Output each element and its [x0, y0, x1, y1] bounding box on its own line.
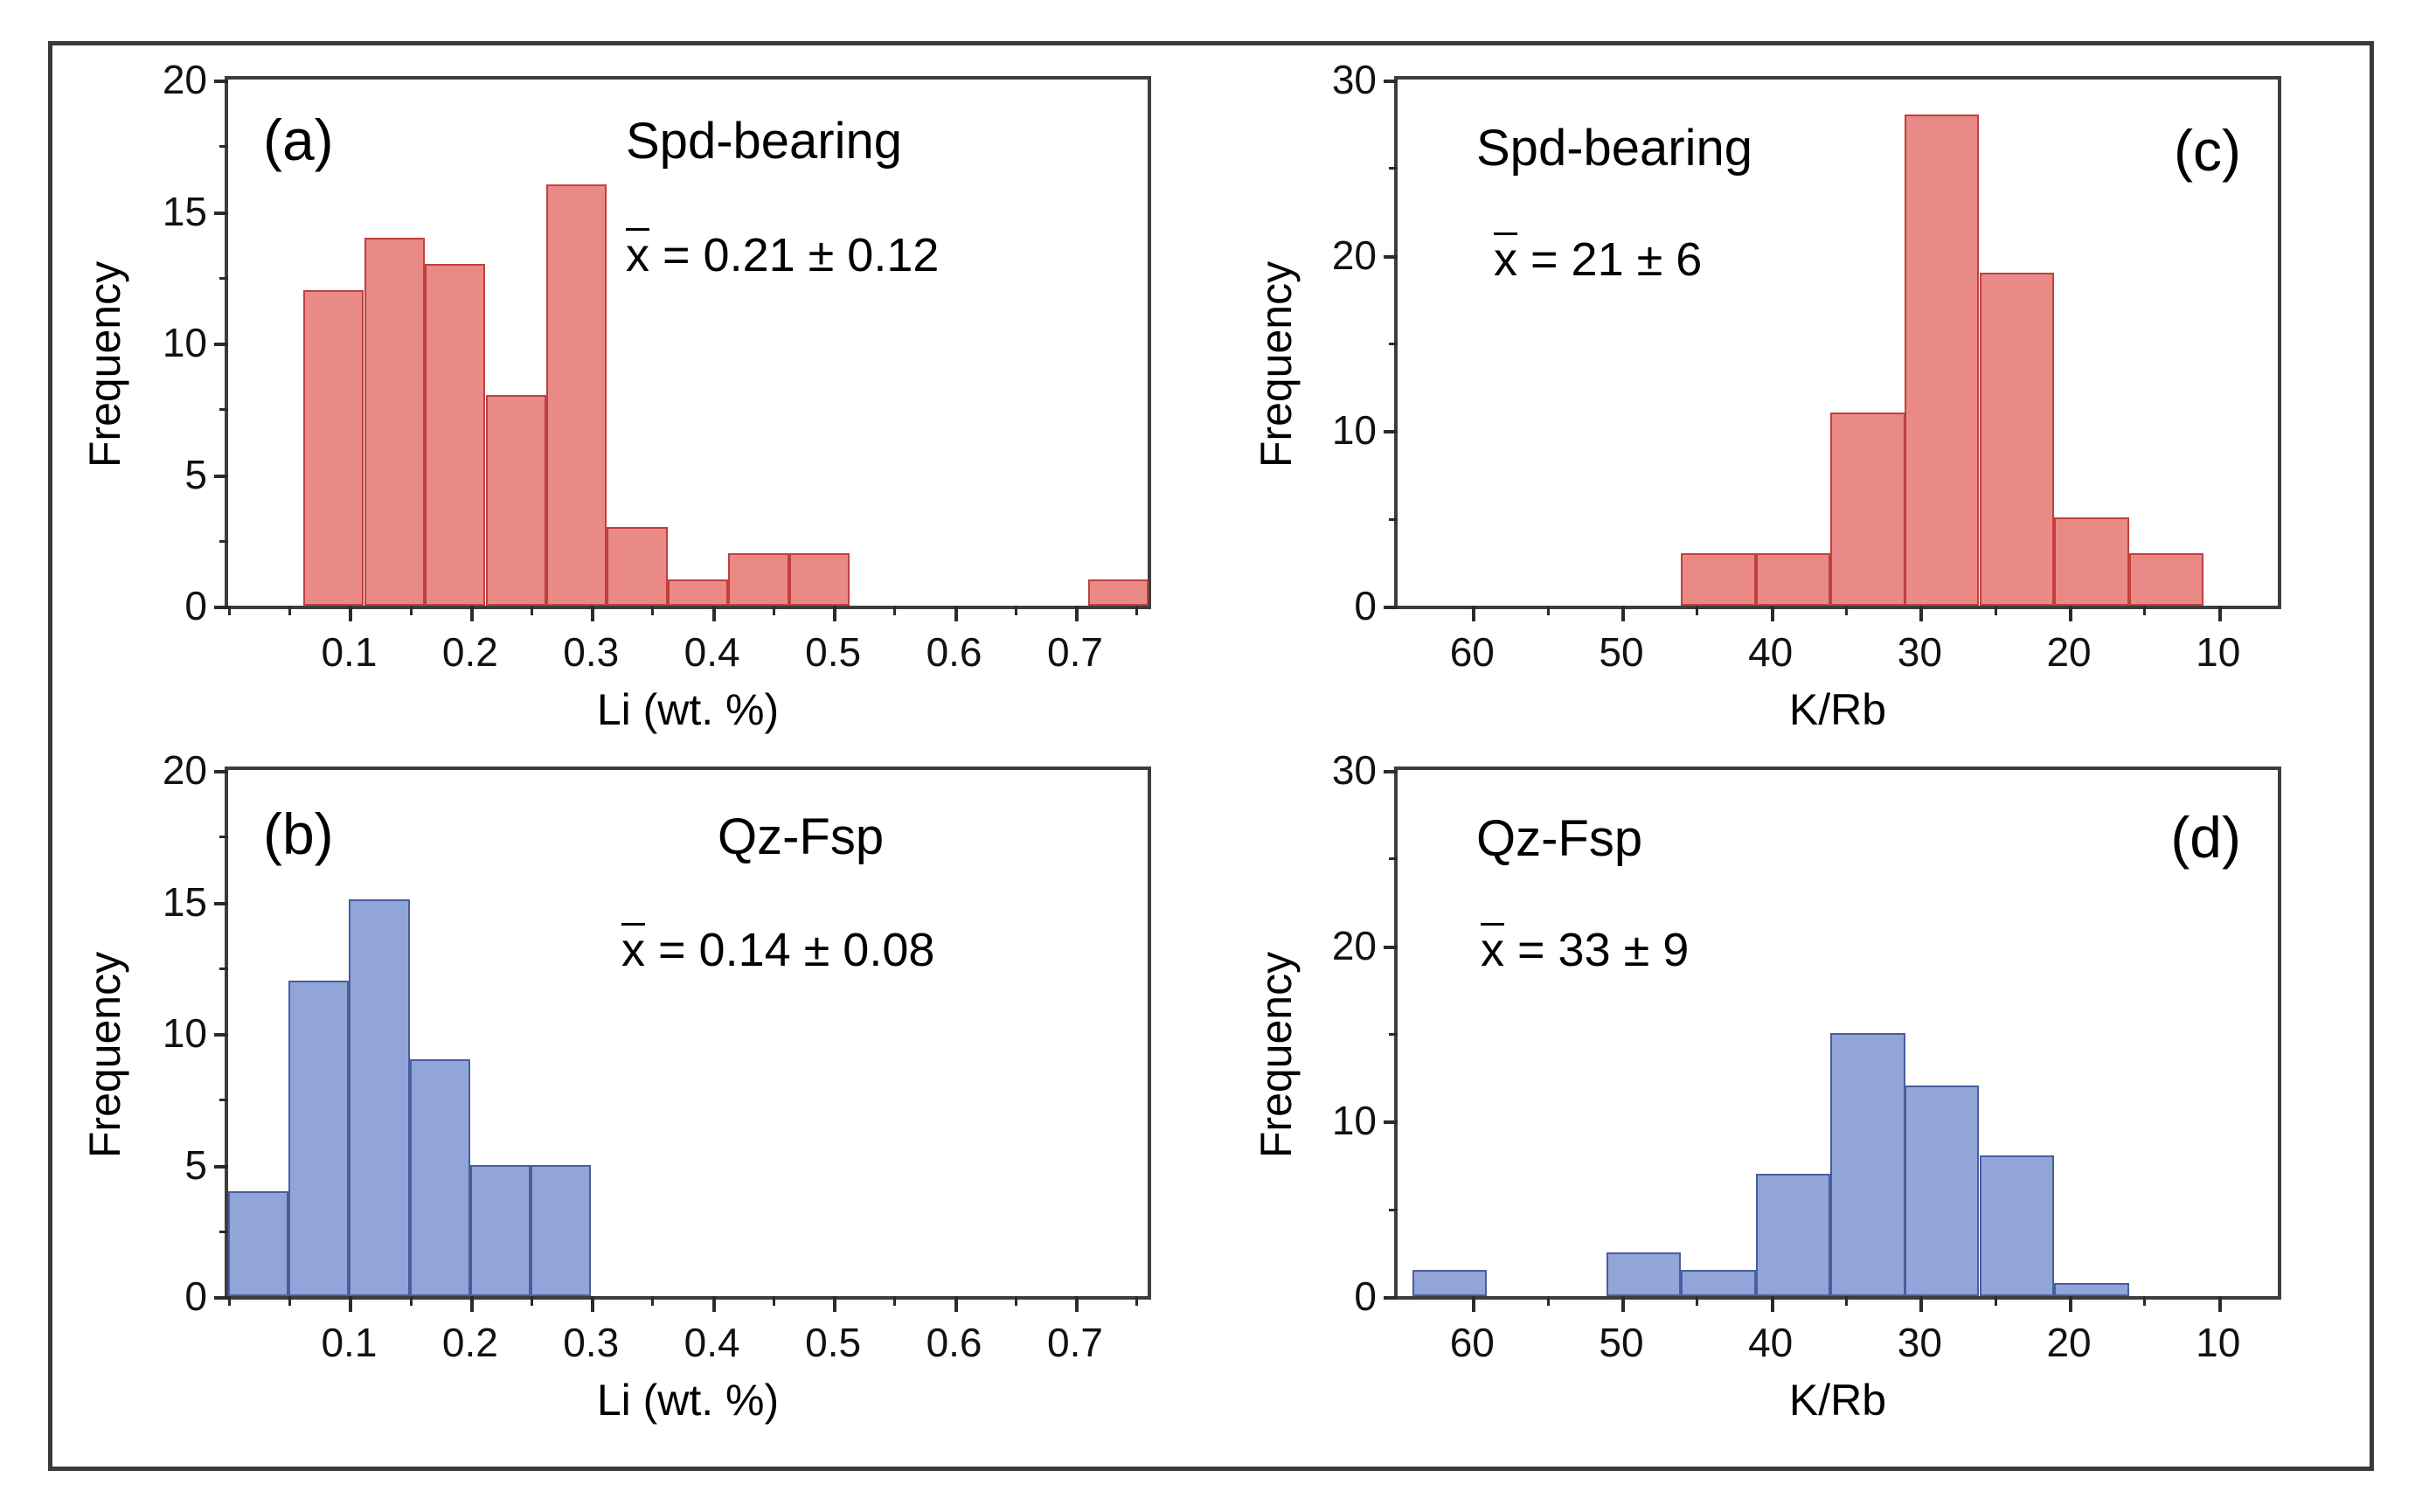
x-tick-minor [2143, 606, 2146, 615]
bar [1980, 273, 2054, 606]
y-tick-label: 20 [1332, 926, 1377, 966]
panel-b-bars-layer: 0 5 10 15 20 0 [228, 770, 1148, 1296]
y-tick [1384, 1296, 1398, 1300]
x-tick-minor [1015, 606, 1017, 615]
x-tick [591, 1296, 594, 1312]
panel-d-x-axis-title: K/Rb [1394, 1378, 2281, 1422]
panel-d-bars-layer: 0 10 20 30 60 50 40 30 20 1 [1398, 770, 2278, 1296]
y-tick-label: 20 [163, 750, 207, 790]
x-tick-minor [1135, 1296, 1138, 1306]
y-tick-minor [1389, 1209, 1398, 1211]
bar [1756, 553, 1830, 606]
y-tick-label: 0 [184, 1276, 207, 1316]
x-tick-minor [1015, 1296, 1017, 1306]
y-tick [214, 212, 228, 215]
x-tick-label: 0.2 [442, 632, 498, 672]
bar [425, 264, 485, 606]
bar [288, 981, 349, 1296]
x-tick-minor [1995, 606, 1997, 615]
bar [546, 184, 607, 606]
bar [607, 527, 667, 606]
panel-a-bars-layer: 0 5 10 15 20 [228, 80, 1148, 606]
y-tick [1384, 770, 1398, 773]
panel-d-tag: (d) [2170, 808, 2241, 866]
bar [1905, 114, 1979, 606]
y-tick-minor [219, 540, 228, 543]
x-tick [954, 606, 958, 621]
x-tick-minor [531, 606, 533, 615]
bar [789, 553, 850, 606]
x-tick-minor [1135, 606, 1138, 615]
panel-c: Frequency 0 10 20 [1215, 45, 2377, 745]
x-tick-label: 10 [2196, 632, 2240, 672]
x-tick-minor [1995, 1296, 1997, 1306]
x-tick-label: 0.2 [442, 1322, 498, 1363]
x-tick-label: 40 [1748, 632, 1793, 672]
x-tick [954, 1296, 958, 1312]
y-tick-minor [1389, 857, 1398, 860]
y-tick [214, 80, 228, 83]
x-tick-label: 0.6 [926, 632, 982, 672]
bar [1756, 1174, 1830, 1296]
panel-c-x-axis-title: K/Rb [1394, 688, 2281, 732]
panel-c-bars-layer: 0 10 20 30 60 50 40 30 20 1 [1398, 80, 2278, 606]
x-tick-minor [1547, 606, 1550, 615]
y-tick-minor [1389, 518, 1398, 521]
x-tick-label: 0.6 [926, 1322, 982, 1363]
y-tick-label: 0 [1354, 586, 1377, 626]
y-tick-label: 20 [1332, 235, 1377, 275]
mean-value-text: = 33 ± 9 [1504, 924, 1689, 976]
bar [1830, 413, 1905, 606]
x-tick-minor [1845, 1296, 1848, 1306]
x-tick-minor [228, 606, 231, 615]
y-tick-label: 10 [1332, 1100, 1377, 1141]
x-tick-minor [651, 606, 654, 615]
x-tick-label: 60 [1450, 632, 1495, 672]
x-bar-symbol: x [621, 923, 645, 974]
y-tick-label: 15 [163, 191, 207, 232]
y-tick-minor [219, 1231, 228, 1233]
x-tick [1472, 1296, 1475, 1312]
y-tick-label: 30 [1332, 750, 1377, 790]
y-tick-label: 5 [184, 454, 207, 495]
y-tick-label: 20 [163, 59, 207, 100]
bar [2129, 553, 2203, 606]
x-tick [1621, 606, 1625, 621]
x-tick-minor [893, 606, 896, 615]
x-tick-label: 0.4 [684, 1322, 740, 1363]
y-tick-minor [219, 836, 228, 838]
y-tick-label: 10 [163, 323, 207, 363]
panel-a: Frequency [52, 45, 1215, 745]
bar [364, 238, 425, 606]
y-tick-minor [219, 408, 228, 411]
panel-c-y-axis-title: Frequency [1254, 190, 1298, 539]
panel-c-plot-area: 0 10 20 30 60 50 40 30 20 1 [1394, 76, 2281, 609]
x-tick-label: 0.1 [321, 632, 377, 672]
x-tick [2069, 1296, 2072, 1312]
x-tick-minor [410, 1296, 413, 1306]
y-tick [1384, 80, 1398, 83]
y-tick-label: 10 [163, 1013, 207, 1053]
y-tick-minor [1389, 167, 1398, 170]
panel-a-plot-area: 0 5 10 15 20 [225, 76, 1151, 609]
x-tick [349, 1296, 352, 1312]
x-tick [1919, 1296, 1923, 1312]
bar [531, 1165, 591, 1297]
y-tick-minor [1389, 343, 1398, 345]
bar [1681, 553, 1755, 606]
x-tick-minor [288, 1296, 291, 1306]
x-tick-label: 60 [1450, 1322, 1495, 1363]
panel-a-x-axis-title: Li (wt. %) [225, 688, 1151, 732]
x-tick [470, 1296, 474, 1312]
panel-c-tag: (c) [2174, 121, 2241, 179]
y-tick [214, 902, 228, 905]
x-tick-label: 0.3 [563, 1322, 619, 1363]
x-tick [1919, 606, 1923, 621]
panel-d-group-label: Qz-Fsp [1476, 814, 1642, 864]
x-tick-label: 40 [1748, 1322, 1793, 1363]
x-tick-minor [773, 1296, 775, 1306]
x-tick [1771, 606, 1774, 621]
x-tick-label: 50 [1599, 1322, 1643, 1363]
y-tick [214, 475, 228, 478]
x-tick-minor [651, 1296, 654, 1306]
x-tick-label: 0.7 [1047, 632, 1103, 672]
x-tick-minor [1696, 1296, 1698, 1306]
y-tick [214, 1165, 228, 1169]
y-tick [1384, 606, 1398, 609]
x-tick [712, 606, 716, 621]
bar [470, 1165, 531, 1297]
panel-a-mean-label: x = 0.21 ± 0.12 [626, 228, 939, 279]
panel-b-mean-label: x = 0.14 ± 0.08 [621, 923, 934, 974]
panel-d-plot-area: 0 10 20 30 60 50 40 30 20 1 [1394, 766, 2281, 1300]
panel-b-tag: (b) [263, 805, 334, 863]
x-tick [1771, 1296, 1774, 1312]
y-tick [214, 606, 228, 609]
x-bar-symbol: x [1494, 232, 1517, 283]
x-tick-label: 0.5 [805, 1322, 861, 1363]
x-tick-label: 0.3 [563, 632, 619, 672]
panel-b-y-axis-title: Frequency [83, 880, 127, 1230]
bar [1681, 1270, 1755, 1296]
x-tick-minor [773, 606, 775, 615]
x-tick-label: 0.1 [321, 1322, 377, 1363]
y-tick [1384, 430, 1398, 433]
bar [228, 1191, 288, 1296]
x-tick [833, 606, 836, 621]
x-tick [1621, 1296, 1625, 1312]
mean-value-text: = 21 ± 6 [1517, 233, 1702, 286]
y-tick-minor [219, 968, 228, 970]
y-tick-label: 15 [163, 882, 207, 922]
bar [1980, 1155, 2054, 1296]
y-tick [214, 343, 228, 346]
x-tick [1075, 606, 1079, 621]
y-tick [214, 1296, 228, 1300]
bar [2054, 517, 2128, 606]
x-tick-minor [228, 1296, 231, 1306]
panel-d: Frequency 0 10 20 [1215, 736, 2377, 1435]
mean-value-text: = 0.21 ± 0.12 [649, 229, 939, 281]
x-tick [470, 606, 474, 621]
x-tick [2218, 1296, 2222, 1312]
panel-c-mean-label: x = 21 ± 6 [1494, 232, 1702, 283]
x-tick-minor [893, 1296, 896, 1306]
x-tick [1472, 606, 1475, 621]
bar [486, 395, 546, 606]
panel-d-mean-label: x = 33 ± 9 [1481, 923, 1689, 974]
panel-d-y-axis-title: Frequency [1254, 880, 1298, 1230]
y-tick [214, 1033, 228, 1037]
x-tick-label: 0.7 [1047, 1322, 1103, 1363]
x-tick-label: 30 [1898, 1322, 1942, 1363]
x-tick-label: 0.4 [684, 632, 740, 672]
x-tick-minor [288, 606, 291, 615]
x-tick-label: 50 [1599, 632, 1643, 672]
y-tick [1384, 255, 1398, 259]
panel-b-plot-area: 0 5 10 15 20 0 [225, 766, 1151, 1300]
y-tick-label: 5 [184, 1145, 207, 1185]
x-tick-minor [410, 606, 413, 615]
panel-a-group-label: Spd-bearing [626, 116, 902, 167]
mean-value-text: = 0.14 ± 0.08 [645, 924, 934, 976]
bar [2054, 1283, 2128, 1296]
x-tick-minor [1845, 606, 1848, 615]
y-tick [1384, 1120, 1398, 1124]
x-tick [712, 1296, 716, 1312]
x-tick-minor [1547, 1296, 1550, 1306]
bar [1830, 1033, 1905, 1296]
x-tick-minor [1696, 606, 1698, 615]
bar [303, 290, 364, 606]
bar [728, 553, 788, 606]
bar [349, 899, 409, 1297]
figure-outer-frame: Frequency [48, 41, 2374, 1471]
y-tick-minor [219, 277, 228, 280]
bar [1412, 1270, 1487, 1296]
x-tick-minor [531, 1296, 533, 1306]
y-tick-minor [219, 1099, 228, 1101]
y-tick-label: 30 [1332, 59, 1377, 100]
y-tick-label: 0 [184, 586, 207, 626]
x-tick-label: 20 [2046, 632, 2091, 672]
panel-a-tag: (a) [263, 111, 334, 169]
panel-b: Frequency 0 5 10 1 [52, 736, 1215, 1435]
y-tick [1384, 946, 1398, 949]
panel-a-y-axis-title: Frequency [83, 190, 127, 539]
x-tick [591, 606, 594, 621]
x-bar-symbol: x [1481, 923, 1504, 974]
x-tick-label: 30 [1898, 632, 1942, 672]
x-tick [349, 606, 352, 621]
bar [668, 579, 728, 606]
x-tick-label: 0.5 [805, 632, 861, 672]
x-tick [2069, 606, 2072, 621]
x-tick [1075, 1296, 1079, 1312]
x-tick-label: 20 [2046, 1322, 2091, 1363]
y-tick-minor [1389, 1033, 1398, 1036]
bar [1088, 579, 1149, 606]
bar [1607, 1252, 1681, 1296]
panel-b-group-label: Qz-Fsp [718, 812, 884, 863]
x-tick-minor [2143, 1296, 2146, 1306]
y-tick [214, 770, 228, 773]
x-tick-label: 10 [2196, 1322, 2240, 1363]
bar [410, 1059, 470, 1296]
bar [1905, 1085, 1979, 1296]
y-tick-label: 10 [1332, 410, 1377, 450]
y-tick-minor [219, 145, 228, 148]
panel-b-x-axis-title: Li (wt. %) [225, 1378, 1151, 1422]
x-bar-symbol: x [626, 228, 649, 279]
x-tick [2218, 606, 2222, 621]
y-tick-label: 0 [1354, 1276, 1377, 1316]
x-tick [833, 1296, 836, 1312]
panel-c-group-label: Spd-bearing [1476, 123, 1752, 174]
